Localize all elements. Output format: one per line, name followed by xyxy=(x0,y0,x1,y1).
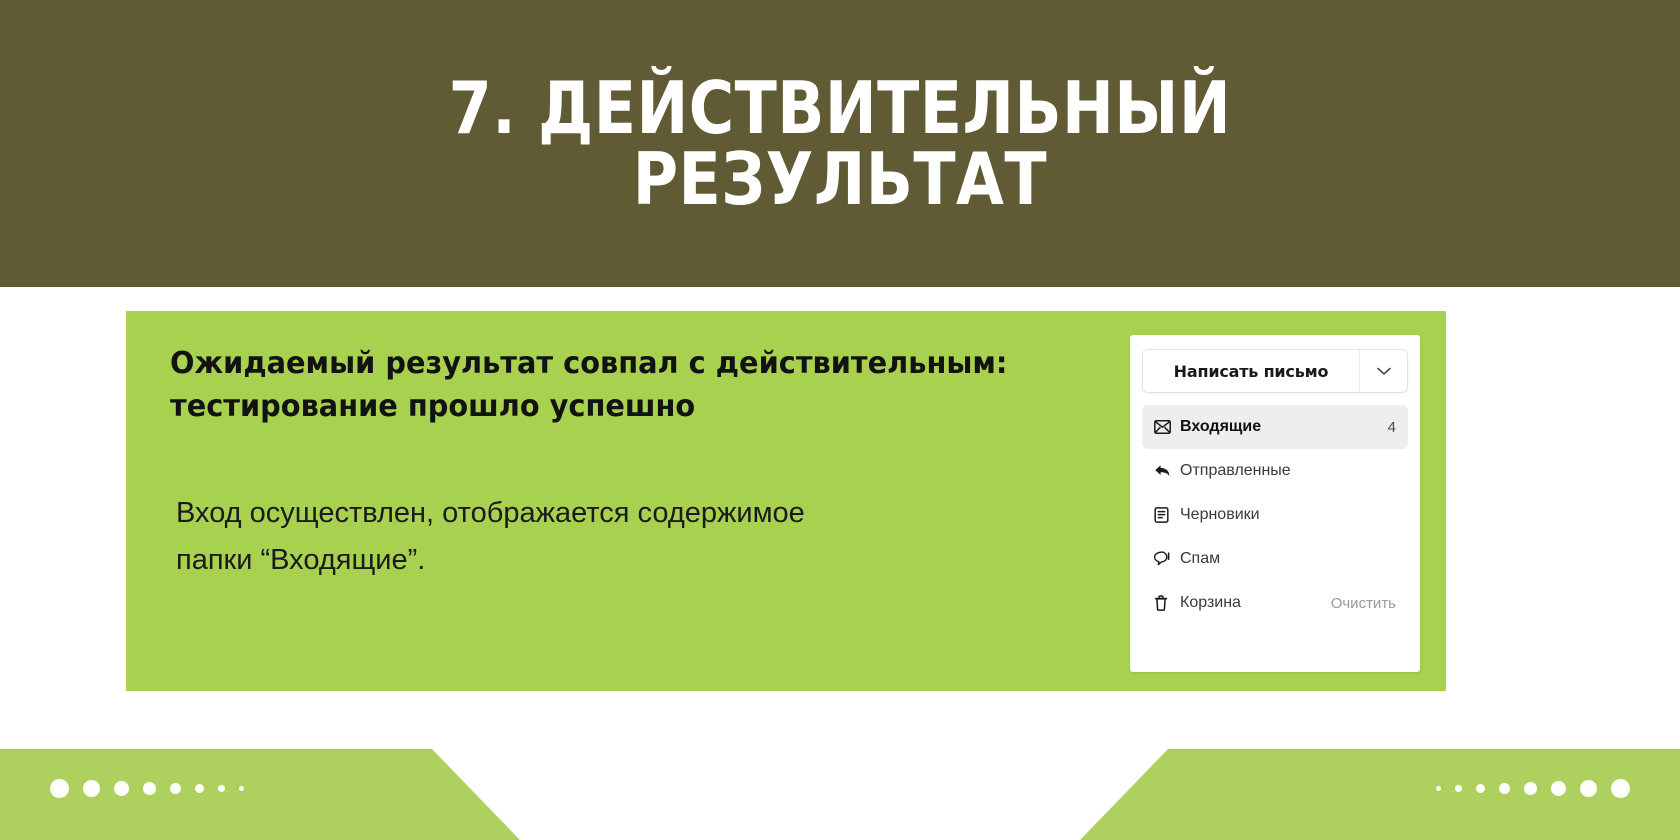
page-title-line-2: РЕЗУЛЬТАТ xyxy=(449,144,1231,215)
decor-dot xyxy=(239,786,244,791)
decor-dot xyxy=(195,784,204,793)
folder-label: Корзина xyxy=(1180,594,1331,612)
folder-item-inbox[interactable]: Входящие 4 xyxy=(1142,405,1408,449)
decor-dot xyxy=(114,781,129,796)
decor-dot xyxy=(1551,781,1566,796)
unread-count-badge: 4 xyxy=(1388,419,1396,436)
folder-item-spam[interactable]: Спам xyxy=(1142,537,1408,581)
page-title-line-1: 7. ДЕЙСТВИТЕЛЬНЫЙ xyxy=(449,73,1231,144)
decor-dot xyxy=(1455,785,1462,792)
dot-decoration-left xyxy=(50,779,244,798)
trash-icon xyxy=(1154,593,1180,613)
compose-control-group: Написать письмо xyxy=(1142,349,1408,393)
bottom-right-banner xyxy=(1080,749,1680,840)
result-description: Вход осуществлен, отображается содержимо… xyxy=(170,490,1120,584)
folder-item-sent[interactable]: Отправленные xyxy=(1142,449,1408,493)
result-summary-line-1: Ожидаемый результат совпал с действитель… xyxy=(170,346,1007,381)
empty-trash-link[interactable]: Очистить xyxy=(1331,595,1396,612)
slide-header-band: 7. ДЕЙСТВИТЕЛЬНЫЙ РЕЗУЛЬТАТ xyxy=(0,0,1680,287)
decor-dot xyxy=(143,782,156,795)
decor-dot xyxy=(1499,783,1510,794)
folder-label: Входящие xyxy=(1180,418,1388,436)
folder-item-trash[interactable]: Корзина Очистить xyxy=(1142,581,1408,625)
content-card: Ожидаемый результат совпал с действитель… xyxy=(126,311,1446,691)
decor-dot xyxy=(1436,786,1441,791)
bottom-left-banner xyxy=(0,749,520,840)
dot-decoration-right xyxy=(1436,779,1630,798)
document-icon xyxy=(1154,505,1180,525)
result-summary: Ожидаемый результат совпал с действитель… xyxy=(170,343,1082,428)
folder-item-drafts[interactable]: Черновики xyxy=(1142,493,1408,537)
folder-label: Спам xyxy=(1180,550,1396,568)
mail-client-panel: Написать письмо Входящие 4 xyxy=(1130,335,1420,672)
result-description-line-2: папки “Входящие”. xyxy=(176,537,1120,584)
decor-dot xyxy=(1580,780,1597,797)
decor-dot xyxy=(1611,779,1630,798)
decor-dot xyxy=(1524,782,1537,795)
compose-button[interactable]: Написать письмо xyxy=(1143,350,1359,392)
card-text-block: Ожидаемый результат совпал с действитель… xyxy=(170,343,1120,584)
result-description-line-1: Вход осуществлен, отображается содержимо… xyxy=(176,497,805,529)
envelope-icon xyxy=(1154,417,1180,437)
result-summary-line-2: тестирование прошло успешно xyxy=(170,386,1082,429)
folder-label: Черновики xyxy=(1180,506,1396,524)
decor-dot xyxy=(50,779,69,798)
chevron-down-icon[interactable] xyxy=(1359,350,1407,392)
decor-dot xyxy=(83,780,100,797)
spam-bubble-icon xyxy=(1154,549,1180,569)
folder-label: Отправленные xyxy=(1180,462,1396,480)
decor-dot xyxy=(218,785,225,792)
decor-dot xyxy=(170,783,181,794)
reply-arrow-icon xyxy=(1154,461,1180,481)
page-title: 7. ДЕЙСТВИТЕЛЬНЫЙ РЕЗУЛЬТАТ xyxy=(449,73,1231,214)
decor-dot xyxy=(1476,784,1485,793)
folder-list: Входящие 4 Отправленные xyxy=(1142,405,1408,625)
